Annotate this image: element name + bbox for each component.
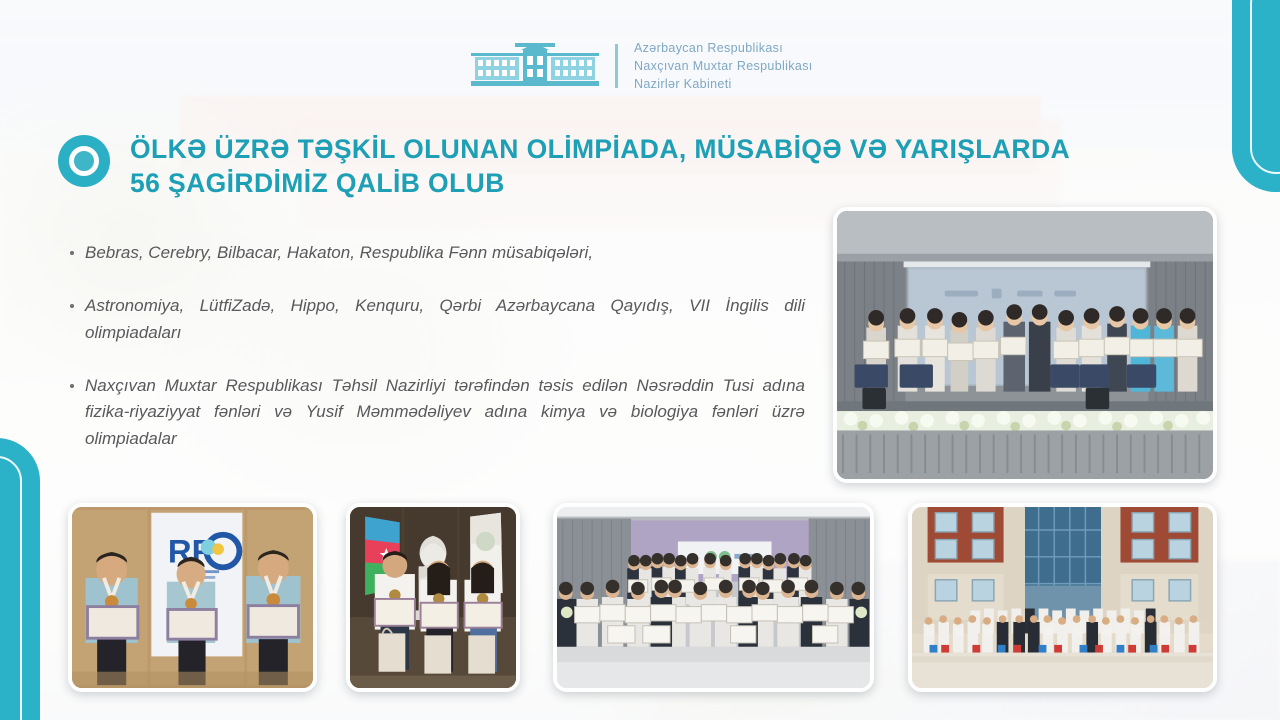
branding-header: Azərbaycan Respublikası Naxçıvan Muxtar … bbox=[471, 40, 813, 93]
bullet-dot-icon bbox=[70, 304, 74, 308]
decorative-outline-bottom-left bbox=[0, 456, 22, 720]
group-building-exterior-photo bbox=[908, 503, 1217, 692]
list-item: Astronomiya, LütfiZadə, Hippo, Kenquru, … bbox=[70, 293, 805, 347]
page-title: ÖLKƏ ÜZRƏ TƏŞKİL OLUNAN OLİMPİADA, MÜSAB… bbox=[58, 133, 1070, 201]
branding-text: Azərbaycan Respublikası Naxçıvan Muxtar … bbox=[634, 40, 813, 93]
bullet-dot-icon bbox=[70, 251, 74, 255]
slide-canvas: Azərbaycan Respublikası Naxçıvan Muxtar … bbox=[0, 0, 1280, 720]
ring-icon-inner bbox=[69, 146, 99, 176]
government-building-icon bbox=[471, 43, 599, 89]
branding-line-1: Azərbaycan Respublikası bbox=[634, 40, 813, 57]
list-item-text: Astronomiya, LütfiZadə, Hippo, Kenquru, … bbox=[85, 293, 805, 347]
ring-icon bbox=[58, 135, 110, 187]
bullet-dot-icon bbox=[70, 384, 74, 388]
bullet-list: Bebras, Cerebry, Bilbacar, Hakaton, Resp… bbox=[70, 240, 805, 453]
list-item-text: Bebras, Cerebry, Bilbacar, Hakaton, Resp… bbox=[85, 240, 805, 267]
three-medalists-rfo-photo: RF bbox=[68, 503, 317, 692]
page-title-line-1: ÖLKƏ ÜZRƏ TƏŞKİL OLUNAN OLİMPİADA, MÜSAB… bbox=[130, 134, 1070, 164]
page-title-line-2: 56 ŞAGİRDİMİZ QALİB OLUB bbox=[130, 167, 1070, 201]
list-item: Naxçıvan Muxtar Respublikası Təhsil Nazi… bbox=[70, 373, 805, 454]
group-auditorium-photo bbox=[553, 503, 874, 692]
three-students-flag-photo bbox=[346, 503, 520, 692]
page-title-text: ÖLKƏ ÜZRƏ TƏŞKİL OLUNAN OLİMPİADA, MÜSAB… bbox=[130, 133, 1070, 201]
branding-line-2: Naxçıvan Muxtar Respublikası bbox=[634, 58, 813, 75]
award-ceremony-stage-photo bbox=[833, 207, 1217, 483]
decorative-outline-top-right bbox=[1250, 0, 1280, 174]
logo-divider bbox=[615, 44, 618, 88]
list-item-text: Naxçıvan Muxtar Respublikası Təhsil Nazi… bbox=[85, 373, 805, 454]
list-item: Bebras, Cerebry, Bilbacar, Hakaton, Resp… bbox=[70, 240, 805, 267]
branding-line-3: Nazirlər Kabineti bbox=[634, 76, 813, 93]
